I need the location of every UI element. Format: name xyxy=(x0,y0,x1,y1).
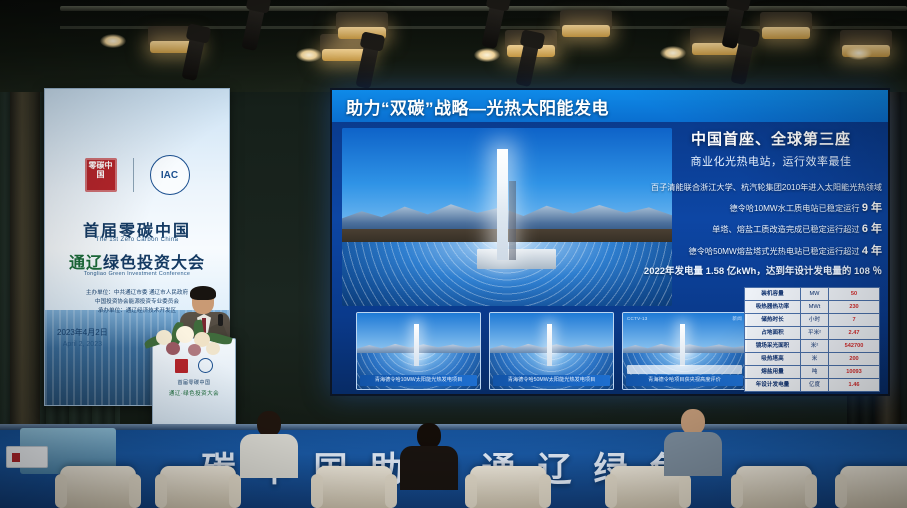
iac-logo-icon: IAC xyxy=(150,155,190,195)
spec-value: 542700 xyxy=(829,340,880,353)
seal-text: 零碳中国 xyxy=(88,161,114,189)
spec-key: 镜场采光面积 xyxy=(745,340,801,353)
bullet-value: 6 年 xyxy=(862,223,882,235)
spec-key: 年设计发电量 xyxy=(745,379,801,392)
thumbnail-item: 青海德令哈10MW太阳能光热发电项目 xyxy=(356,312,481,390)
flower-bloom xyxy=(206,342,220,355)
audience-torso xyxy=(664,432,722,476)
table-row: 吸热塔高 米 200 xyxy=(745,353,880,366)
audience-person xyxy=(240,411,298,478)
audience-person xyxy=(664,409,722,476)
thumbnail-item: CCTV-13 新闻 青海德令哈项目获央视高度评价 xyxy=(622,312,747,390)
spec-key: 熔盐用量 xyxy=(745,366,801,379)
table-row: 年设计发电量 亿度 1.46 xyxy=(745,379,880,392)
banner-logo-row: 零碳中国 IAC xyxy=(45,155,229,195)
thumbnail-caption: 青海德令哈50MW太阳能光热发电项目 xyxy=(493,375,610,386)
audience-torso xyxy=(400,446,458,490)
hall-pillar-left xyxy=(10,60,40,460)
bullet-line: 百子清能联合浙江大学、杭汽轮集团2010年进入太阳能光热领域 xyxy=(614,184,882,193)
light-glow xyxy=(660,46,686,60)
table-row: 储热时长 小时 7 xyxy=(745,314,880,327)
flower-bloom xyxy=(188,344,201,356)
spec-key: 吸热器热功率 xyxy=(745,301,801,314)
bullet-value: 9 年 xyxy=(862,202,882,214)
banner-subtitle-cn: 通辽绿色投资大会 xyxy=(45,249,229,273)
flower-bloom xyxy=(176,326,194,343)
headline-sub: 商业化光热电站，运行效率最佳 xyxy=(664,153,878,169)
spec-key: 占地面积 xyxy=(745,327,801,340)
banner-sky-background xyxy=(45,89,229,317)
audience-torso xyxy=(240,434,298,478)
spec-unit: 吨 xyxy=(801,366,829,379)
audience-chair xyxy=(60,466,136,508)
table-row: 熔盐用量 吨 10093 xyxy=(745,366,880,379)
lighting-truss xyxy=(0,0,907,92)
banner-title-en: The 1st Zero Carbon China xyxy=(45,237,229,243)
banner-date-block: 2023年4月2日 April 2, 2023 xyxy=(57,327,108,351)
spec-value: 200 xyxy=(829,353,880,366)
spec-unit: MW xyxy=(801,288,829,301)
spec-unit: 平米² xyxy=(801,327,829,340)
cctv-program-logo: 新闻 xyxy=(732,316,742,322)
spec-value: 1.46 xyxy=(829,379,880,392)
light-glow xyxy=(474,48,500,62)
thumbnail-caption: 青海德令哈10MW太阳能光热发电项目 xyxy=(360,375,477,386)
audience-person xyxy=(400,423,458,490)
headline-main: 中国首座、全球第三座 xyxy=(664,128,878,149)
podium-flower-arrangement xyxy=(142,316,234,362)
bullet-summary-line: 2022年发电量 1.58 亿kWh，达到年设计发电量的 108 ％ xyxy=(614,267,882,277)
plant-spec-table: 装机容量 MW 50 吸热器热功率 MWt 230 储热时长 小时 7 xyxy=(744,287,880,392)
logo-divider xyxy=(133,158,134,192)
banner-date-en: April 2, 2023 xyxy=(57,339,108,351)
news-ticker-strip xyxy=(627,365,742,374)
slide-title: 助力“双碳”战略—光热太阳能发电 xyxy=(346,94,609,119)
foreground-seal-icon xyxy=(12,453,20,462)
stage-light-fixture xyxy=(560,10,612,30)
banner-subtitle-en: Tongliao Green Investment Conference xyxy=(45,271,229,277)
light-glow xyxy=(846,46,872,60)
bullet-line: 德令哈50MW熔盐塔式光热电站已稳定运行超过 4 年 xyxy=(614,246,882,258)
bullet-value: 4 年 xyxy=(862,245,882,257)
spec-unit: 米² xyxy=(801,340,829,353)
audience-chair xyxy=(470,466,546,508)
spec-unit: 亿度 xyxy=(801,379,829,392)
slide-title-bar: 助力“双碳”战略—光热太阳能发电 xyxy=(332,90,888,122)
podium-title-cn: 首届零碳中国 xyxy=(153,379,235,386)
spec-value: 50 xyxy=(829,288,880,301)
spec-key: 储热时长 xyxy=(745,314,801,327)
banner-subtitle-rest: 绿色投资大会 xyxy=(103,255,205,272)
cctv-channel-logo: CCTV-13 xyxy=(627,316,648,321)
speaker-hair xyxy=(190,286,216,300)
spec-unit: 米 xyxy=(801,353,829,366)
slide-bullet-list: 百子清能联合浙江大学、杭汽轮集团2010年进入太阳能光热领域 德令哈10MW水工… xyxy=(614,184,882,287)
zero-carbon-seal-icon: 零碳中国 xyxy=(85,158,117,192)
table-row: 镜场采光面积 米² 542700 xyxy=(745,340,880,353)
spec-key: 装机容量 xyxy=(745,288,801,301)
led-presentation-screen: 助力“双碳”战略—光热太阳能发电 中国首座、全球第三座 商业化光热电站，运行效率… xyxy=(330,88,890,396)
banner-date-cn: 2023年4月2日 xyxy=(57,327,108,339)
spec-value: 230 xyxy=(829,301,880,314)
thumbnail-item: 青海德令哈50MW太阳能光热发电项目 xyxy=(489,312,614,390)
spec-value: 2.47 xyxy=(829,327,880,340)
thumb-solar-tower xyxy=(414,324,419,367)
audience-chair xyxy=(736,466,812,508)
thumb-solar-tower xyxy=(680,324,685,367)
audience-chair xyxy=(840,466,907,508)
spec-unit: 小时 xyxy=(801,314,829,327)
stage-light-fixture xyxy=(760,12,812,32)
spec-value: 10093 xyxy=(829,366,880,379)
table-row: 占地面积 平米² 2.47 xyxy=(745,327,880,340)
photo-tower-shadow xyxy=(509,181,516,259)
slide-thumbnail-row: 青海德令哈10MW太阳能光热发电项目 青海德令哈50MW太阳能光热发电项目 CC… xyxy=(356,312,748,390)
spec-key: 吸热塔高 xyxy=(745,353,801,366)
bullet-line: 单塔、熔盐工质改造完成已稳定运行超过 6 年 xyxy=(614,224,882,236)
spec-value: 7 xyxy=(829,314,880,327)
spec-unit: MWt xyxy=(801,301,829,314)
stage-light-fixture xyxy=(336,12,388,32)
flower-bloom xyxy=(166,342,180,355)
audience-chair xyxy=(160,466,236,508)
banner-city-name: 通辽 xyxy=(69,255,103,272)
truss-bar-top xyxy=(60,6,907,11)
slide-body: 中国首座、全球第三座 商业化光热电站，运行效率最佳 百子清能联合浙江大学、杭汽轮… xyxy=(332,122,888,396)
slide-headline-block: 中国首座、全球第三座 商业化光热电站，运行效率最佳 xyxy=(664,128,878,169)
photo-solar-tower xyxy=(497,149,508,259)
thumb-solar-tower xyxy=(547,324,552,367)
light-glow xyxy=(296,48,322,62)
podium-subtitle-cn: 通辽·绿色投资大会 xyxy=(153,389,235,397)
photo-power-block xyxy=(477,249,556,269)
thumbnail-caption: 青海德令哈项目获央视高度评价 xyxy=(626,375,743,386)
audience-chair xyxy=(316,466,392,508)
bullet-line: 德令哈10MW水工质电站已稳定运行 9 年 xyxy=(614,203,882,215)
table-row: 装机容量 MW 50 xyxy=(745,288,880,301)
light-glow xyxy=(100,34,126,48)
table-row: 吸热器热功率 MWt 230 xyxy=(745,301,880,314)
conference-stage-scene: 助力“双碳”战略—光热太阳能发电 中国首座、全球第三座 商业化光热电站，运行效率… xyxy=(0,0,907,508)
